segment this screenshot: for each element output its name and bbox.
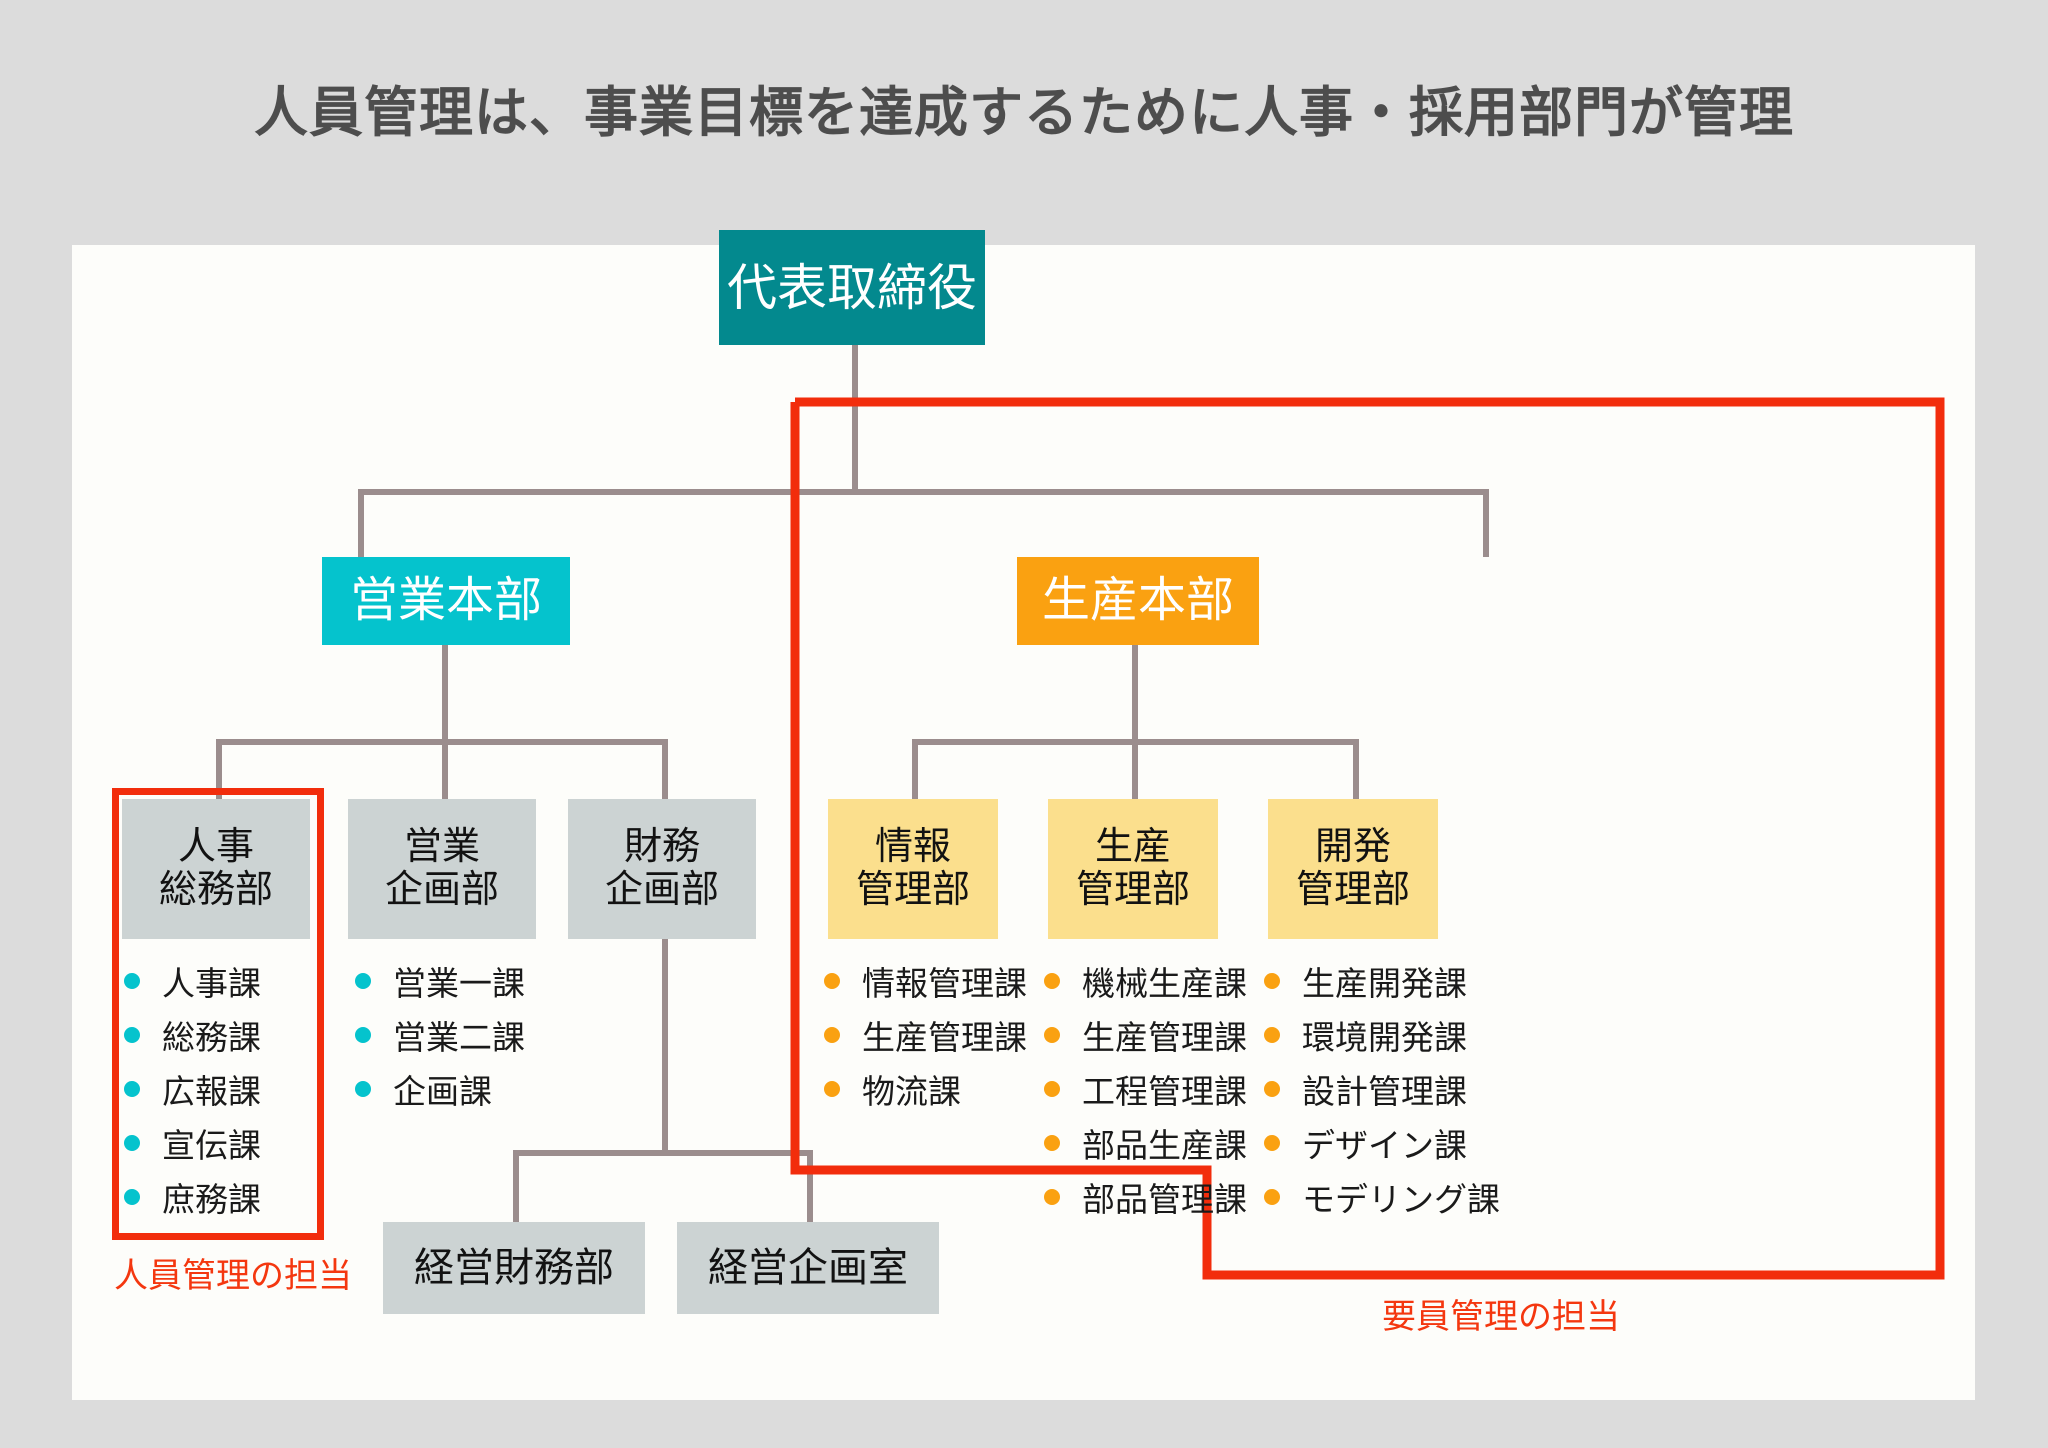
node-dept-info-mgmt-label-line1: 情報 <box>875 826 951 869</box>
bullet-dot-icon <box>1044 1081 1060 1097</box>
node-dept-finance-planning-label-line1: 財務 <box>624 826 700 869</box>
list-item: 環境開発課 <box>1264 1011 1500 1059</box>
node-sales-hq[interactable]: 営業本部 <box>322 557 570 645</box>
list-item: 営業一課 <box>355 957 525 1005</box>
node-dept-prod-mgmt-label-line2: 管理部 <box>1076 869 1190 912</box>
list-item: 部品生産課 <box>1044 1119 1247 1167</box>
list-item: 機械生産課 <box>1044 957 1247 1005</box>
node-keiei-zaimu-bu[interactable]: 経営財務部 <box>383 1222 645 1314</box>
list-item: 部品管理課 <box>1044 1173 1247 1221</box>
bullet-dot-icon <box>824 1027 840 1043</box>
hr-highlight-label: 人員管理の担当 <box>114 1248 352 1297</box>
node-dept-info-mgmt[interactable]: 情報 管理部 <box>828 799 998 939</box>
section-label: 営業一課 <box>393 957 525 1005</box>
section-label: 企画課 <box>393 1065 492 1113</box>
section-label: デザイン課 <box>1302 1119 1467 1167</box>
list-item: 企画課 <box>355 1065 525 1113</box>
section-label: 機械生産課 <box>1082 957 1247 1005</box>
page-title: 人員管理は、事業目標を達成するために人事・採用部門が管理 <box>0 68 2048 147</box>
node-dept-sales-planning-label-line1: 営業 <box>404 826 480 869</box>
section-label: 生産管理課 <box>1082 1011 1247 1059</box>
node-dept-finance-planning-label-line2: 企画部 <box>605 869 719 912</box>
list-item: 物流課 <box>824 1065 1027 1113</box>
list-item: 情報管理課 <box>824 957 1027 1005</box>
section-label: 情報管理課 <box>862 957 1027 1005</box>
list-item: モデリング課 <box>1264 1173 1500 1221</box>
section-label: 営業二課 <box>393 1011 525 1059</box>
node-ceo[interactable]: 代表取締役 <box>719 230 985 345</box>
org-chart-panel: 代表取締役 営業本部 生産本部 人事 総務部 営業 企画部 財務 企画部 情報 … <box>72 245 1975 1400</box>
bullet-dot-icon <box>1264 973 1280 989</box>
list-item: 生産管理課 <box>824 1011 1027 1059</box>
node-production-hq[interactable]: 生産本部 <box>1017 557 1259 645</box>
list-item: 設計管理課 <box>1264 1065 1500 1113</box>
bullet-dot-icon <box>1044 1189 1060 1205</box>
node-dept-dev-mgmt-label-line1: 開発 <box>1315 826 1391 869</box>
section-label: 部品生産課 <box>1082 1119 1247 1167</box>
node-sales-hq-label: 営業本部 <box>350 574 542 628</box>
bullet-dot-icon <box>1264 1189 1280 1205</box>
node-keiei-kikaku-shitsu[interactable]: 経営企画室 <box>677 1222 939 1314</box>
node-ceo-label: 代表取締役 <box>727 260 977 316</box>
section-label: 設計管理課 <box>1302 1065 1467 1113</box>
list-item: 営業二課 <box>355 1011 525 1059</box>
list-item: デザイン課 <box>1264 1119 1500 1167</box>
bullet-dot-icon <box>1264 1081 1280 1097</box>
node-dept-finance-planning[interactable]: 財務 企画部 <box>568 799 756 939</box>
node-dept-prod-mgmt[interactable]: 生産 管理部 <box>1048 799 1218 939</box>
bullet-dot-icon <box>1044 1027 1060 1043</box>
bullet-dot-icon <box>1264 1027 1280 1043</box>
node-dept-dev-mgmt[interactable]: 開発 管理部 <box>1268 799 1438 939</box>
section-label: 部品管理課 <box>1082 1173 1247 1221</box>
list-item: 生産管理課 <box>1044 1011 1247 1059</box>
node-dept-info-mgmt-label-line2: 管理部 <box>856 869 970 912</box>
section-label: 生産開発課 <box>1302 957 1467 1005</box>
node-production-hq-label: 生産本部 <box>1042 574 1234 628</box>
section-label: 環境開発課 <box>1302 1011 1467 1059</box>
section-label: モデリング課 <box>1302 1173 1500 1221</box>
bullet-dot-icon <box>1264 1135 1280 1151</box>
section-list-sales-planning: 営業一課 営業二課 企画課 <box>355 957 525 1119</box>
node-dept-sales-planning[interactable]: 営業 企画部 <box>348 799 536 939</box>
bullet-dot-icon <box>824 1081 840 1097</box>
node-dept-prod-mgmt-label-line1: 生産 <box>1095 826 1171 869</box>
bullet-dot-icon <box>355 1081 371 1097</box>
list-item: 生産開発課 <box>1264 957 1500 1005</box>
hr-highlight-outline <box>112 788 324 1240</box>
node-dept-sales-planning-label-line2: 企画部 <box>385 869 499 912</box>
node-dept-dev-mgmt-label-line2: 管理部 <box>1296 869 1410 912</box>
node-keiei-zaimu-bu-label: 経営財務部 <box>414 1246 614 1291</box>
section-label: 工程管理課 <box>1082 1065 1247 1113</box>
bullet-dot-icon <box>355 973 371 989</box>
node-keiei-kikaku-shitsu-label: 経営企画室 <box>708 1246 908 1291</box>
section-label: 生産管理課 <box>862 1011 1027 1059</box>
section-list-prod-mgmt: 機械生産課 生産管理課 工程管理課 部品生産課 部品管理課 <box>1044 957 1247 1227</box>
bullet-dot-icon <box>1044 1135 1060 1151</box>
list-item: 工程管理課 <box>1044 1065 1247 1113</box>
production-highlight-label: 要員管理の担当 <box>1382 1289 1620 1338</box>
section-list-info-mgmt: 情報管理課 生産管理課 物流課 <box>824 957 1027 1119</box>
bullet-dot-icon <box>1044 973 1060 989</box>
section-list-dev-mgmt: 生産開発課 環境開発課 設計管理課 デザイン課 モデリング課 <box>1264 957 1500 1227</box>
section-label: 物流課 <box>862 1065 961 1113</box>
bullet-dot-icon <box>355 1027 371 1043</box>
bullet-dot-icon <box>824 973 840 989</box>
